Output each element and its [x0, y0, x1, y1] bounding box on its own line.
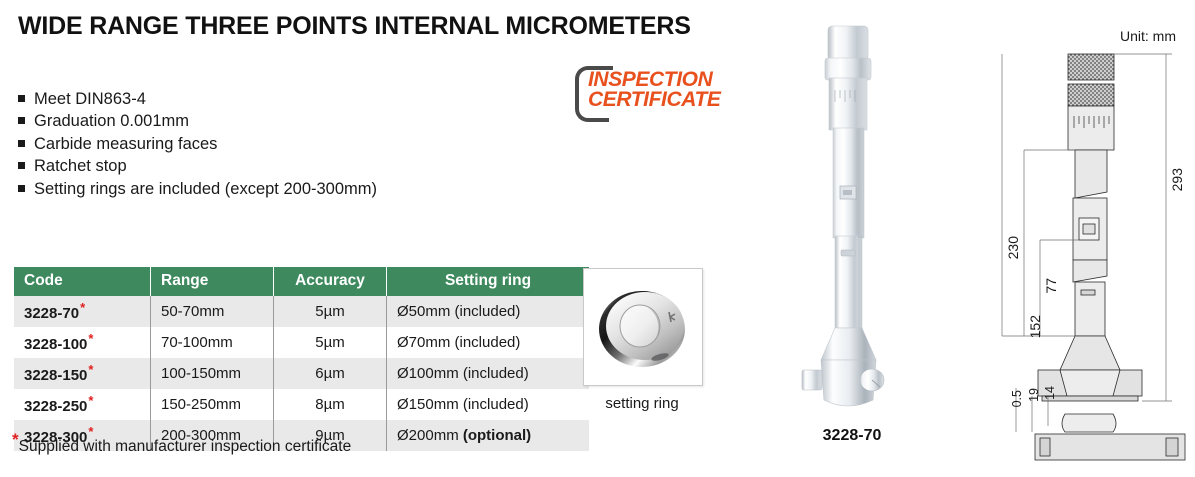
- micrometer-photo-illustration: [780, 18, 930, 418]
- ring-size: Ø70mm: [397, 334, 450, 351]
- square-bullet-icon: [18, 162, 25, 169]
- feature-text: Carbide measuring faces: [34, 133, 217, 155]
- cell-accuracy: 5µm: [274, 327, 387, 358]
- cell-code: 3228-70*: [14, 296, 151, 327]
- setting-ring-illustration: [584, 269, 700, 383]
- ring-size: Ø150mm: [397, 396, 459, 413]
- cell-accuracy: 5µm: [274, 296, 387, 327]
- table-row: 3228-250* 150-250mm 8µm Ø150mm (included…: [14, 389, 589, 420]
- dimension-label-body-length: 230: [1005, 236, 1021, 259]
- certificate-star: *: [80, 300, 85, 315]
- setting-ring-photo: [583, 268, 703, 386]
- cell-code: 3228-150*: [14, 358, 151, 389]
- list-item: Graduation 0.001mm: [18, 110, 377, 132]
- ring-size: Ø200mm: [397, 427, 459, 444]
- setting-ring-caption: setting ring: [583, 395, 701, 412]
- code-value: 3228-100: [24, 336, 87, 353]
- ring-size: Ø50mm: [397, 303, 450, 320]
- cell-setting-ring: Ø200mm (optional): [387, 420, 590, 451]
- column-header-accuracy: Accuracy: [274, 267, 387, 296]
- table-row: 3228-150* 100-150mm 6µm Ø100mm (included…: [14, 358, 589, 389]
- ring-note: (optional): [463, 427, 531, 444]
- cell-accuracy: 6µm: [274, 358, 387, 389]
- certificate-line-2: CERTIFICATE: [588, 90, 721, 110]
- certificate-star: *: [88, 331, 93, 346]
- product-photo-caption: 3228-70: [782, 427, 922, 445]
- cell-code: 3228-100*: [14, 327, 151, 358]
- certificate-badge-text: INSPECTION CERTIFICATE: [588, 70, 721, 110]
- table-row: 3228-70* 50-70mm 5µm Ø50mm (included): [14, 296, 589, 327]
- certificate-star: *: [88, 362, 93, 377]
- list-item: Setting rings are included (except 200-3…: [18, 178, 377, 200]
- dimension-label-overall-height: 293: [1169, 168, 1185, 191]
- catalog-page: WIDE RANGE THREE POINTS INTERNAL MICROME…: [0, 0, 1195, 477]
- cell-setting-ring: Ø150mm (included): [387, 389, 590, 420]
- feature-text: Setting rings are included (except 200-3…: [34, 178, 377, 200]
- footnote-text: Supplied with manufacturer inspection ce…: [19, 438, 352, 455]
- cell-range: 50-70mm: [151, 296, 274, 327]
- cell-setting-ring: Ø100mm (included): [387, 358, 590, 389]
- ring-size: Ø100mm: [397, 365, 459, 382]
- list-item: Carbide measuring faces: [18, 133, 377, 155]
- footnote: *Supplied with manufacturer inspection c…: [12, 430, 351, 456]
- list-item: Ratchet stop: [18, 155, 377, 177]
- list-item: Meet DIN863-4: [18, 88, 377, 110]
- feature-list: Meet DIN863-4 Graduation 0.001mm Carbide…: [18, 88, 377, 200]
- code-value: 3228-250: [24, 398, 87, 415]
- cell-range: 70-100mm: [151, 327, 274, 358]
- ring-note: (included): [455, 303, 521, 320]
- dimension-label-detail-height: 19: [1027, 388, 1041, 402]
- column-header-setting-ring: Setting ring: [387, 267, 590, 296]
- dimension-label-head-length: 77: [1043, 278, 1059, 294]
- dimension-label-detail-width: 14: [1043, 386, 1057, 400]
- feature-text: Ratchet stop: [34, 155, 127, 177]
- specification-table: Code Range Accuracy Setting ring 3228-70…: [14, 267, 589, 451]
- cell-range: 150-250mm: [151, 389, 274, 420]
- square-bullet-icon: [18, 95, 25, 102]
- column-header-range: Range: [151, 267, 274, 296]
- ring-note: (included): [463, 396, 529, 413]
- dimension-label-base-thickness: 0.5: [1010, 390, 1024, 407]
- ring-note: (included): [455, 334, 521, 351]
- table-row: 3228-100* 70-100mm 5µm Ø70mm (included): [14, 327, 589, 358]
- square-bullet-icon: [18, 140, 25, 147]
- page-title: WIDE RANGE THREE POINTS INTERNAL MICROME…: [18, 12, 691, 41]
- table-header-row: Code Range Accuracy Setting ring: [14, 267, 589, 296]
- square-bullet-icon: [18, 117, 25, 124]
- cell-range: 100-150mm: [151, 358, 274, 389]
- cell-code: 3228-250*: [14, 389, 151, 420]
- cell-setting-ring: Ø70mm (included): [387, 327, 590, 358]
- ring-note: (included): [463, 365, 529, 382]
- cell-accuracy: 8µm: [274, 389, 387, 420]
- square-bullet-icon: [18, 185, 25, 192]
- code-value: 3228-150: [24, 367, 87, 384]
- certificate-star: *: [88, 393, 93, 408]
- inspection-certificate-badge: INSPECTION CERTIFICATE: [575, 64, 755, 122]
- code-value: 3228-70: [24, 305, 79, 322]
- certificate-line-1: INSPECTION: [588, 70, 721, 90]
- product-photo: [780, 18, 930, 418]
- cell-setting-ring: Ø50mm (included): [387, 296, 590, 327]
- feature-text: Meet DIN863-4: [34, 88, 146, 110]
- column-header-code: Code: [14, 267, 151, 296]
- footnote-star: *: [12, 430, 19, 449]
- dimension-label-mid-length: 152: [1027, 315, 1043, 338]
- feature-text: Graduation 0.001mm: [34, 110, 189, 132]
